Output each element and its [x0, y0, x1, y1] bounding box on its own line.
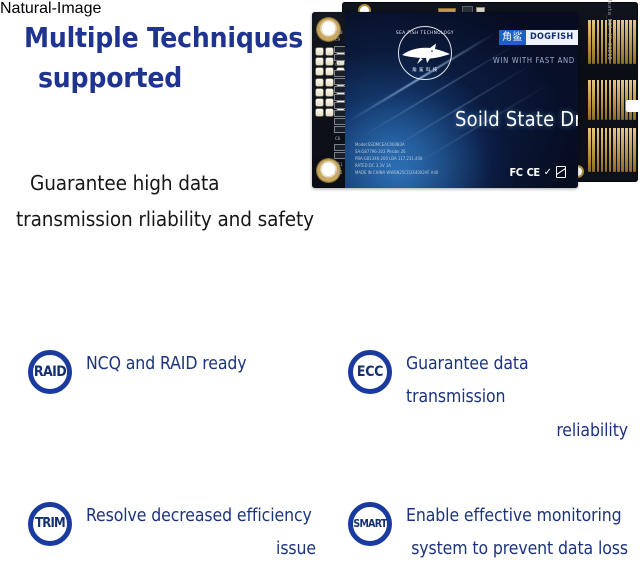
lead-line-1: Guarantee high data: [16, 165, 336, 201]
ssd-label: SEA FISH TECHNOLOGY 角 鲨 科 技 角鲨 DOGFISH W…: [345, 12, 578, 188]
feature-line-1: NCQ and RAID ready: [86, 348, 316, 381]
ecc-badge-icon: ECC: [348, 350, 392, 394]
fcc-icon: FC: [510, 167, 523, 178]
lead-paragraph: Guarantee high data transmission rliabil…: [16, 165, 336, 238]
lead-line-2: transmission rliability and safety: [16, 201, 336, 237]
smart-badge-label: SMART: [353, 519, 386, 530]
feature-text-smart: Enable effective monitoring system to pr…: [406, 500, 628, 566]
promo-banner: Multiple Techniques supported Guarantee …: [0, 0, 640, 538]
check-mark-icon: ✓: [544, 167, 552, 178]
raid-badge-icon: RAID: [28, 350, 72, 394]
headline-line-1: Multiple Techniques: [24, 21, 303, 54]
feature-line-2: reliability: [406, 415, 628, 448]
feature-line-1: Enable effective monitoring: [406, 500, 628, 533]
spec-line: RATED:DC 3.3V 1A: [355, 164, 438, 171]
ce-icon: CE: [527, 167, 540, 178]
certification-marks: FC CE ✓: [510, 166, 566, 178]
trim-badge-label: TRIM: [35, 517, 65, 530]
product-label-title: Soild State Drive: [455, 107, 578, 131]
logo-arc-top: SEA FISH TECHNOLOGY: [393, 31, 457, 36]
feature-line-1: Resolve decreased efficiency: [86, 500, 316, 533]
spec-line: MADE IN CHINA WWSN25CD2E4002AF A40: [355, 171, 438, 178]
feature-item-raid: RAID NCQ and RAID ready: [0, 348, 320, 448]
feature-item-ecc: ECC Guarantee data transmission reliabil…: [320, 348, 640, 448]
feature-item-smart: SMART Enable effective monitoring system…: [320, 448, 640, 566]
feature-line-1: Guarantee data transmission: [406, 348, 628, 415]
logo-arc-bottom: 角 鲨 科 技: [393, 67, 457, 73]
headline-line-2: supported: [24, 58, 324, 98]
product-tagline: WIN WITH FAST AND WISDOM: [493, 56, 578, 65]
brand-name-cn: 角鲨: [499, 30, 526, 45]
dogfish-logo-badge: SEA FISH TECHNOLOGY 角 鲨 科 技: [393, 24, 457, 82]
ecc-badge-label: ECC: [357, 365, 383, 379]
page-title: Multiple Techniques supported: [24, 18, 324, 98]
trim-badge-icon: TRIM: [28, 502, 72, 546]
feature-text-raid: NCQ and RAID ready: [86, 348, 316, 381]
product-image-ssd: SM2246XT_Msata_BGA_4F_0121B C10 C9: [312, 2, 638, 194]
smart-badge-icon: SMART: [348, 502, 392, 546]
feature-item-trim: TRIM Resolve decreased efficiency issue: [0, 448, 320, 566]
feature-row-1: RAID NCQ and RAID ready ECC Guarantee da…: [0, 348, 640, 448]
feature-text-ecc: Guarantee data transmission reliability: [406, 348, 628, 448]
raid-badge-label: RAID: [34, 365, 66, 379]
shark-icon: [397, 38, 455, 68]
feature-row-2: TRIM Resolve decreased efficiency issue …: [0, 448, 640, 566]
pcb-silkscreen-text: SM2246XT_Msata_BGA_4F_0121B: [606, 0, 612, 60]
product-spec-block: Model:SSDMCEAC060B3A SA:G87796-203 Phsib…: [355, 143, 438, 178]
brand-lockup: 角鲨 DOGFISH: [499, 30, 578, 45]
brand-name-en: DOGFISH: [526, 30, 578, 45]
ssd-front-face: C10 C9 C7 C0 C11 C12: [312, 12, 578, 188]
weee-bin-icon: [556, 166, 566, 178]
edge-connector-bank-bottom: [588, 128, 636, 172]
feature-text-trim: Resolve decreased efficiency issue: [86, 500, 316, 566]
edge-connector-bank-top: [588, 20, 636, 64]
pcb-key-notch: [626, 100, 638, 112]
feature-grid: RAID NCQ and RAID ready ECC Guarantee da…: [0, 348, 640, 566]
